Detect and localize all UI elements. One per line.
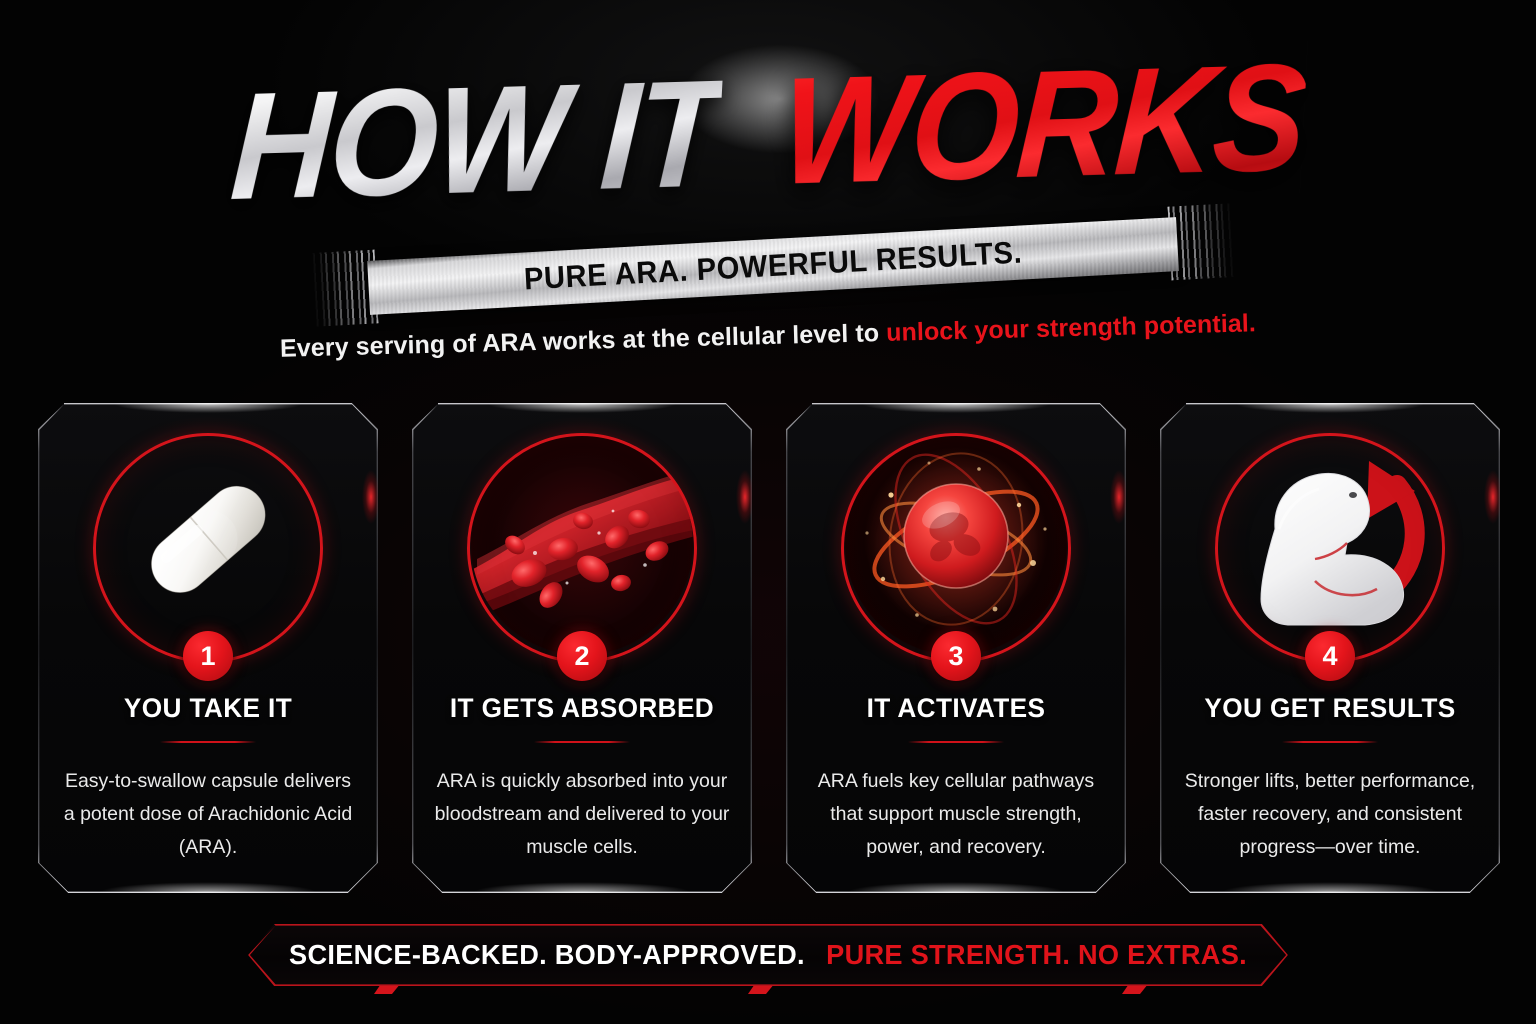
card-top-glow-icon	[113, 403, 303, 413]
step-number-badge: 4	[1305, 631, 1355, 681]
infographic-root: HOW ITWORKS PURE ARA. POWERFUL RESULTS. …	[0, 0, 1536, 1024]
card-edge-flare-icon	[1102, 455, 1126, 539]
card-top-glow-icon	[861, 403, 1051, 413]
card-bottom-glow-icon	[473, 882, 691, 893]
header: HOW ITWORKS PURE ARA. POWERFUL RESULTS. …	[0, 0, 1536, 330]
step-title: YOU TAKE IT	[43, 693, 373, 724]
card-bottom-glow-icon	[847, 882, 1065, 893]
step-number-badge: 3	[931, 631, 981, 681]
subtitle-highlight: unlock your strength potential.	[886, 309, 1256, 347]
step-card-3[interactable]: 3 IT ACTIVATES ARA fuels key cellular pa…	[786, 403, 1126, 893]
card-top-glow-icon	[1235, 403, 1425, 413]
step-card-2[interactable]: 2 IT GETS ABSORBED ARA is quickly absorb…	[412, 403, 752, 893]
step-card-4[interactable]: 4 YOU GET RESULTS Stronger lifts, better…	[1160, 403, 1500, 893]
page-title: HOW ITWORKS	[0, 35, 1536, 230]
subtitle: Every serving of ARA works at the cellul…	[0, 302, 1536, 371]
card-top-glow-icon	[487, 403, 677, 413]
card-edge-flare-icon	[728, 455, 752, 539]
step-title: IT GETS ABSORBED	[417, 693, 747, 724]
card-edge-flare-icon	[354, 455, 378, 539]
step-title: IT ACTIVATES	[791, 693, 1121, 724]
banner-tagline: PURE ARA. POWERFUL RESULTS.	[391, 218, 1154, 313]
step-description: Stronger lifts, better performance, fast…	[1182, 765, 1478, 864]
title-divider	[160, 741, 256, 743]
title-word-how-it: HOW IT	[227, 57, 723, 223]
step-number-badge: 1	[183, 631, 233, 681]
card-bottom-glow-icon	[99, 882, 317, 893]
icon-ring	[1215, 433, 1445, 663]
card-edge-flare-icon	[1476, 455, 1500, 539]
icon-ring	[841, 433, 1071, 663]
step-description: Easy-to-swallow capsule delivers a poten…	[60, 765, 356, 864]
icon-ring	[467, 433, 697, 663]
step-card-1[interactable]: 1 YOU TAKE IT Easy-to-swallow capsule de…	[38, 403, 378, 893]
title-word-works: WORKS	[777, 41, 1307, 208]
title-divider	[908, 741, 1004, 743]
footer-claim-strength: PURE STRENGTH. NO EXTRAS.	[826, 939, 1247, 971]
step-description: ARA fuels key cellular pathways that sup…	[808, 765, 1104, 864]
footer-banner-text: SCIENCE-BACKED. BODY-APPROVED. PURE STRE…	[264, 924, 1273, 986]
step-number-badge: 2	[557, 631, 607, 681]
card-bottom-glow-icon	[1221, 882, 1439, 893]
title-divider	[1282, 741, 1378, 743]
title-divider	[534, 741, 630, 743]
icon-ring	[93, 433, 323, 663]
step-title: YOU GET RESULTS	[1165, 693, 1495, 724]
footer-banner: SCIENCE-BACKED. BODY-APPROVED. PURE STRE…	[248, 924, 1288, 986]
steps-container: 1 YOU TAKE IT Easy-to-swallow capsule de…	[38, 403, 1500, 893]
footer-claim-science: SCIENCE-BACKED. BODY-APPROVED.	[289, 939, 805, 971]
step-description: ARA is quickly absorbed into your bloods…	[434, 765, 730, 864]
